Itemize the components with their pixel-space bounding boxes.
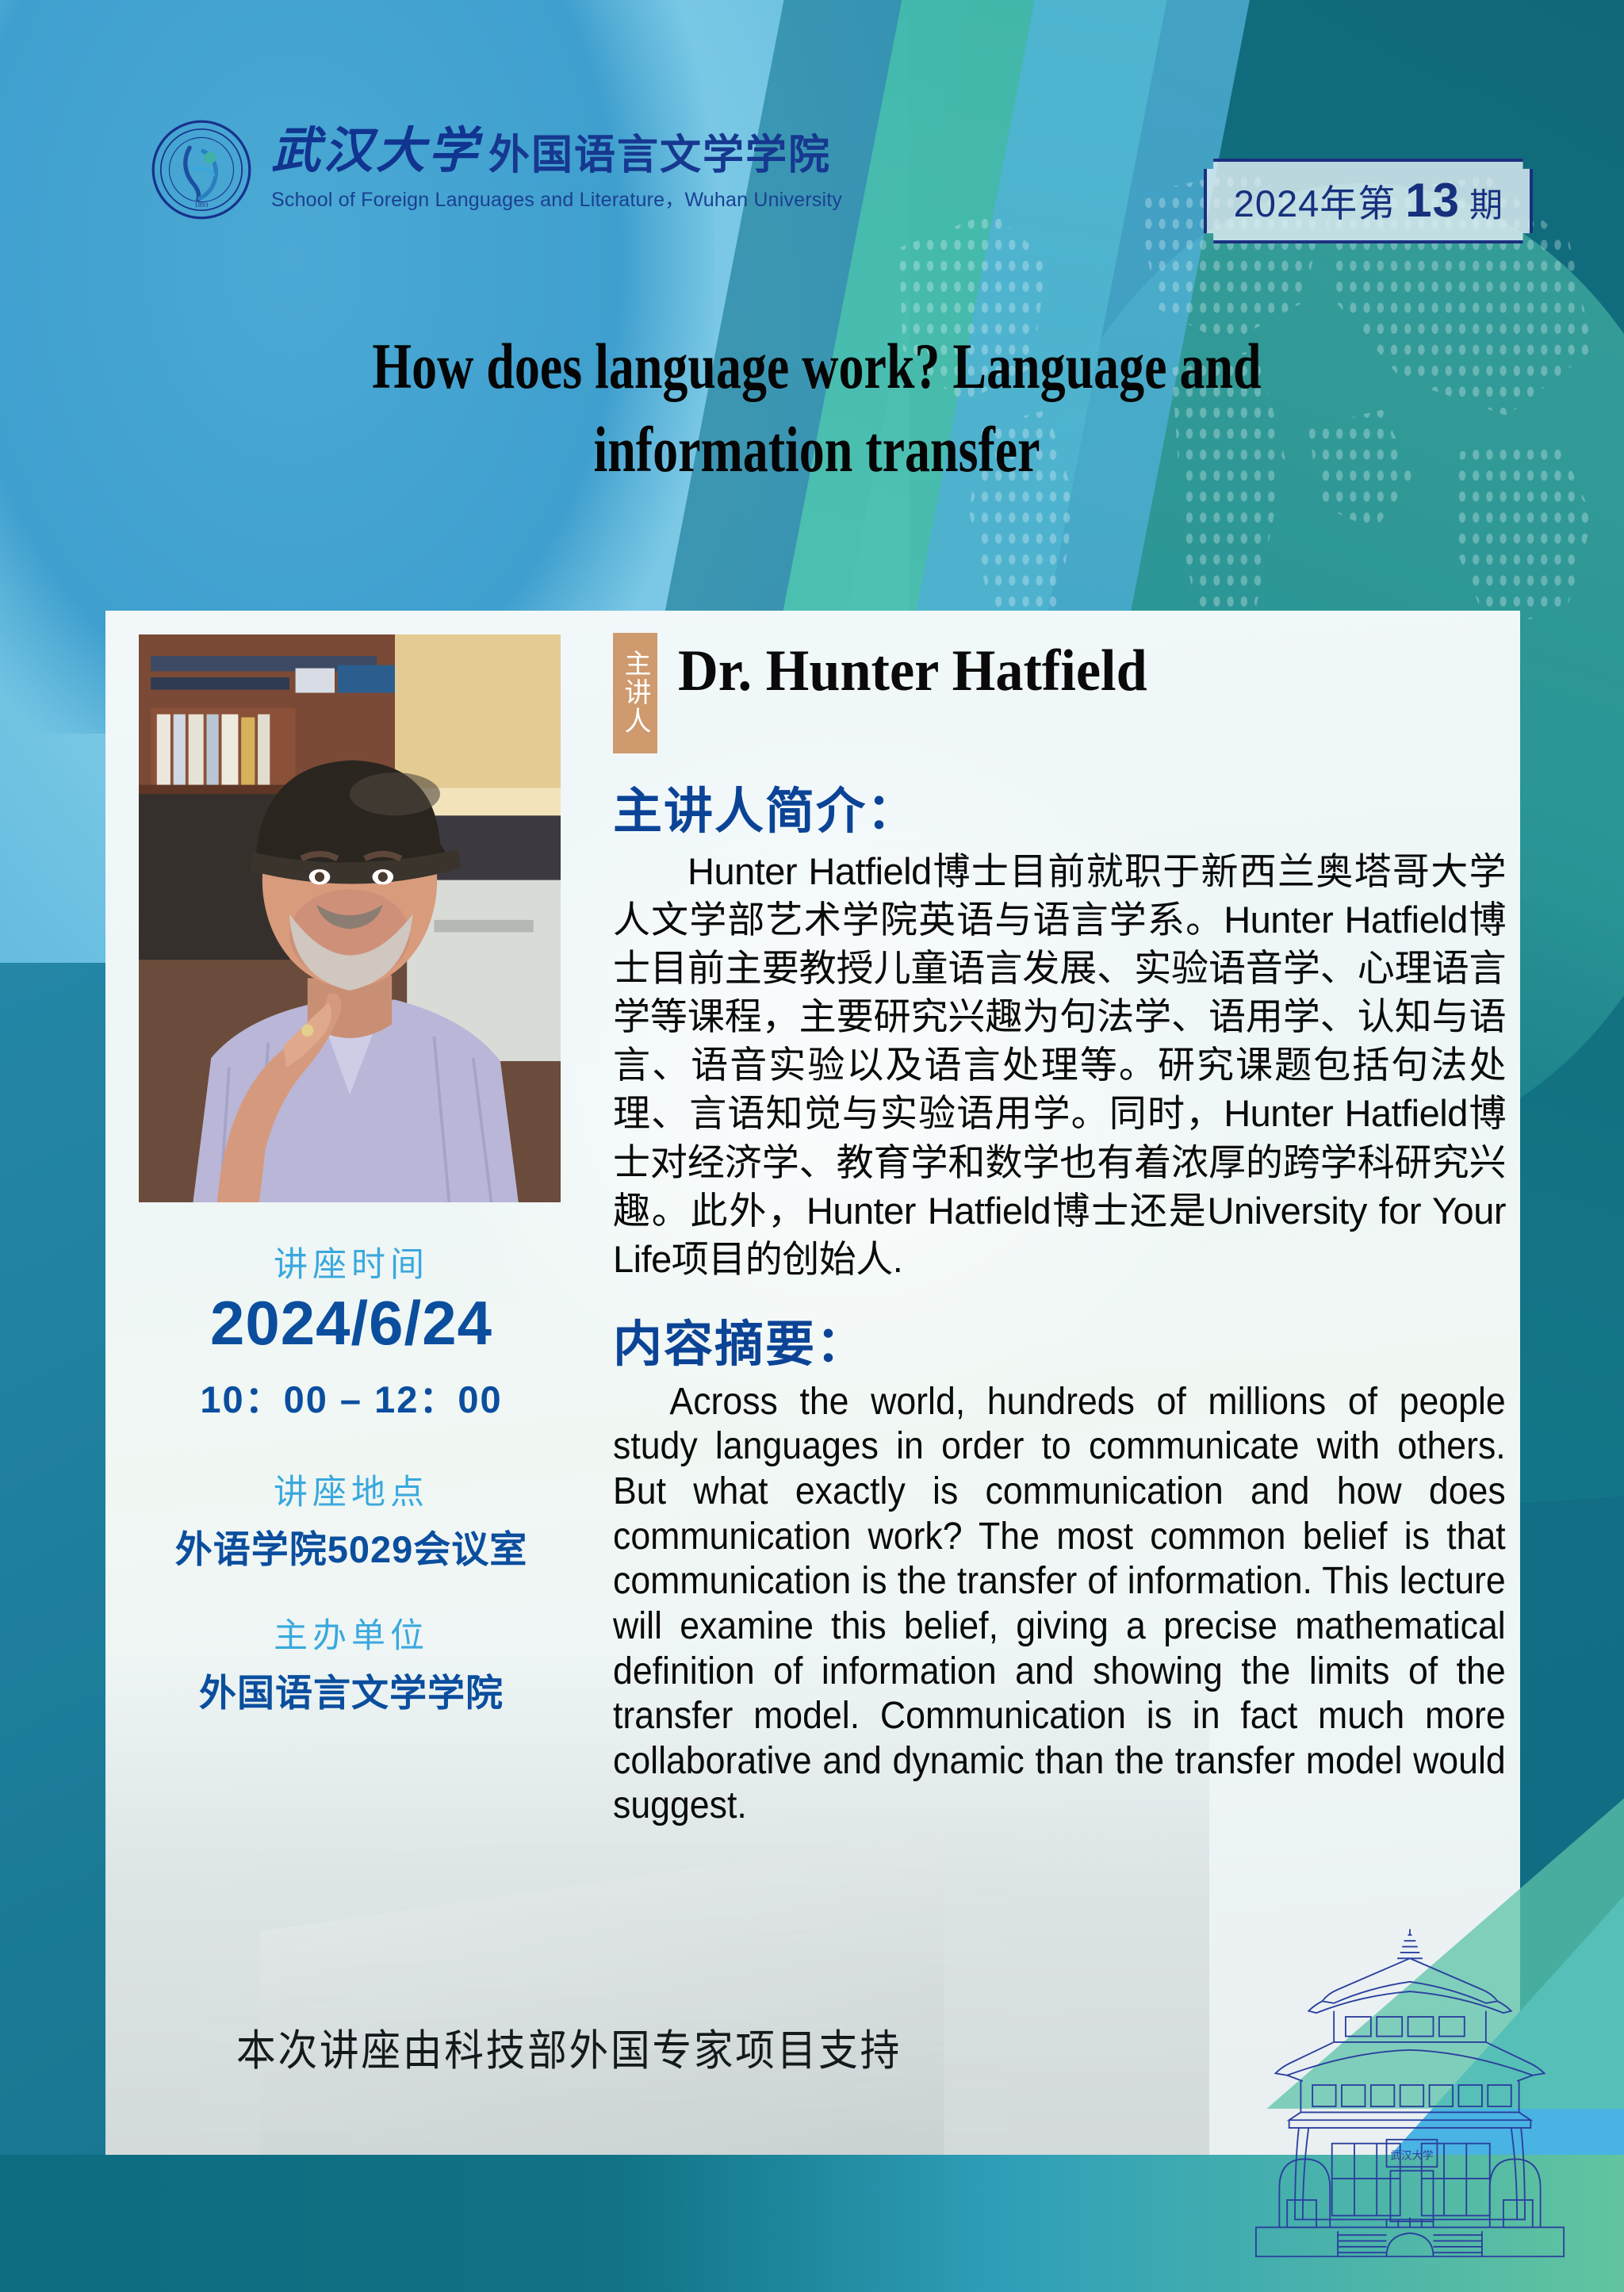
wuhan-university-old-library-lineart-icon: 武汉大学 bbox=[1243, 1927, 1576, 2268]
speaker-vertical-badge: 主讲人 bbox=[613, 633, 657, 753]
event-info-block: 讲座时间 2024/6/24 10：00 – 12：00 讲座地点 外语学院50… bbox=[105, 1237, 597, 1717]
lecture-time-value: 10：00 – 12：00 bbox=[105, 1369, 597, 1424]
speaker-photo-wrapper bbox=[129, 625, 570, 1212]
school-name-en: School of Foreign Languages and Literatu… bbox=[271, 184, 842, 213]
building-plaque-text: 武汉大学 bbox=[1390, 2149, 1433, 2161]
lecture-venue-label: 讲座地点 bbox=[105, 1465, 597, 1514]
bio-text: Hunter Hatfield博士目前就职于新西兰奥塔哥大学人文学部艺术学院英语… bbox=[613, 847, 1506, 1283]
lecture-time-label: 讲座时间 bbox=[105, 1237, 597, 1286]
issue-prefix: 2024年第 bbox=[1234, 173, 1396, 228]
issue-suffix: 期 bbox=[1469, 178, 1503, 227]
abstract-text: Across the world, hundreds of millions o… bbox=[613, 1380, 1506, 1829]
lecture-venue-value: 外语学院5029会议室 bbox=[105, 1519, 597, 1573]
organizer-value: 外国语言文学学院 bbox=[105, 1662, 597, 1717]
issue-badge: 2024年第 13 期 bbox=[1204, 159, 1533, 243]
svg-text:1893: 1893 bbox=[194, 201, 208, 209]
title-line-2: information transfer bbox=[254, 408, 1380, 492]
abstract-heading: 内容摘要： bbox=[613, 1304, 1506, 1375]
university-name-cn: 武汉大学 bbox=[271, 127, 481, 176]
lecture-poster: 1893 武汉大学 外国语言文学学院 School of Foreign Lan… bbox=[0, 0, 1624, 2292]
header-branding: 1893 武汉大学 外国语言文学学院 School of Foreign Lan… bbox=[151, 119, 842, 220]
speaker-content-column: 主讲人 Dr. Hunter Hatfield 主讲人简介： Hunter Ha… bbox=[613, 615, 1506, 1829]
speaker-name: Dr. Hunter Hatfield bbox=[678, 639, 1147, 703]
speaker-header-row: 主讲人 Dr. Hunter Hatfield bbox=[613, 615, 1506, 753]
page-title: How does language work? Language and inf… bbox=[254, 325, 1380, 492]
title-line-1: How does language work? Language and bbox=[254, 325, 1380, 408]
issue-number: 13 bbox=[1399, 173, 1466, 228]
speaker-photo bbox=[139, 634, 561, 1202]
wuhan-university-sfl-seal-icon: 1893 bbox=[151, 119, 252, 220]
organizer-label: 主办单位 bbox=[105, 1608, 597, 1658]
lecture-date-value: 2024/6/24 bbox=[105, 1291, 597, 1356]
bio-heading: 主讲人简介： bbox=[613, 771, 1506, 842]
sponsor-note: 本次讲座由科技部外国专家项目支持 bbox=[236, 2015, 902, 2078]
school-name-cn: 外国语言文学学院 bbox=[488, 135, 831, 176]
portrait-illustration bbox=[139, 634, 561, 1202]
